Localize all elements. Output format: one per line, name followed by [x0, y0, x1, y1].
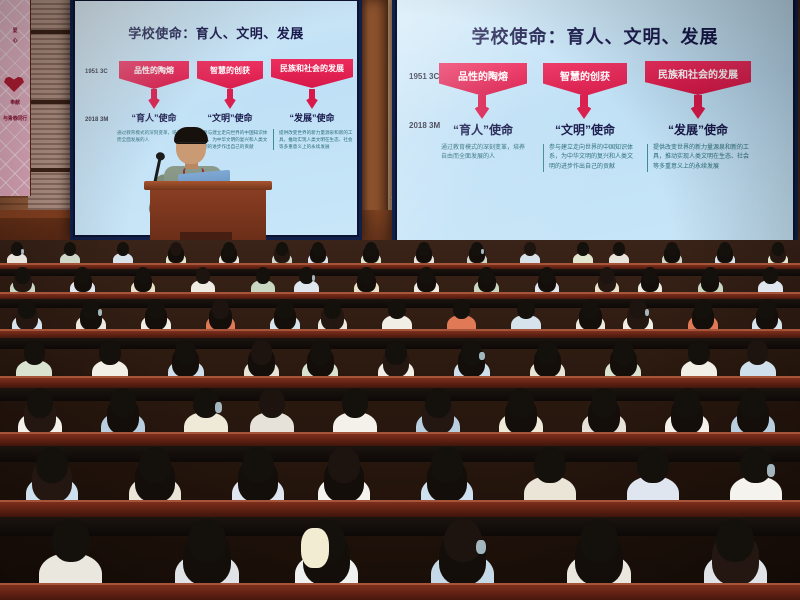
audience-head [36, 447, 67, 483]
audience-head [419, 267, 434, 284]
audience-head [613, 340, 634, 365]
audience-head [52, 519, 90, 563]
mission-1: “育人”使命 [119, 111, 189, 124]
audience-head [772, 242, 784, 256]
audience-head [324, 299, 342, 319]
mission-3: “发展”使命 [645, 121, 751, 138]
audience-head [613, 242, 625, 256]
banner-2: 智慧的创获 [197, 61, 263, 89]
audience-head [540, 267, 555, 284]
audience-head [479, 267, 494, 284]
audience-head [365, 242, 377, 256]
audience-head [139, 447, 170, 483]
audience-head [312, 242, 324, 256]
desc-3: 提供改变世界的新力量源泉和新的工具，推动实现人类文明在生态、社会等多重意义上的永… [273, 129, 355, 150]
audience-head [147, 299, 165, 319]
audience-head [425, 388, 451, 418]
face-mask [645, 309, 650, 316]
audience-head [64, 242, 76, 256]
audience-head [310, 340, 331, 365]
arrow-2 [223, 89, 237, 109]
audience-head [27, 388, 53, 418]
glasses-icon [177, 142, 205, 148]
seat-back [0, 446, 800, 462]
face-mask [21, 249, 24, 254]
slide-right: 学校使命：育人、文明、发展 1951 3C 2018 3M 品性的陶熔 “育人”… [397, 0, 793, 241]
audience-head [688, 340, 709, 365]
mission-3: “发展”使命 [271, 111, 353, 124]
poster-line-1: 爱 [2, 28, 28, 34]
audience-head [359, 267, 374, 284]
banner-1: 品性的陶熔 [439, 63, 527, 96]
year-label-top: 1951 3C [85, 69, 108, 75]
hair-bow [301, 528, 328, 568]
blind-rail [26, 100, 76, 104]
audience-head [758, 299, 776, 319]
audience-head [385, 340, 406, 365]
poster-line-3: 奉献 [2, 100, 28, 106]
banner-2: 智慧的创获 [543, 63, 627, 96]
poster-line-2: 心 [2, 38, 28, 44]
audience-head [577, 242, 589, 256]
audience-head [276, 242, 288, 256]
face-mask [98, 309, 103, 316]
audience-head [431, 447, 462, 483]
audience-head [637, 447, 668, 483]
audience-head [196, 267, 211, 284]
mission-2: “文明”使命 [197, 111, 263, 124]
audience-head [188, 519, 226, 563]
audience-head [453, 299, 471, 319]
audience-head [537, 340, 558, 365]
audience-head [580, 519, 618, 563]
audience-head [666, 242, 678, 256]
audience-head [582, 299, 600, 319]
audience-head [251, 340, 272, 365]
face-mask [476, 540, 486, 555]
audience-head [212, 299, 230, 319]
desc-2: 参与建立走向世界的中国知识体系，为中华文明的复兴和人类文明的进步作出自己的贡献 [543, 144, 633, 172]
audience-head [170, 242, 182, 256]
audience-head [110, 388, 136, 418]
face-mask [767, 464, 775, 476]
audience-head [719, 242, 731, 256]
audience-head [75, 267, 90, 284]
audience-head [24, 340, 45, 365]
audience-head [591, 388, 617, 418]
audience-head [524, 242, 536, 256]
year-label-bottom: 2018 3M [85, 117, 108, 123]
audience-head [18, 299, 36, 319]
audience-head [136, 267, 151, 284]
heart-icon [4, 76, 24, 92]
projection-screen-right: 学校使命：育人、文明、发展 1951 3C 2018 3M 品性的陶熔 “育人”… [392, 0, 798, 246]
audience-head [342, 388, 368, 418]
slide-title: 学校使命：育人、文明、发展 [75, 23, 357, 42]
audience-head [99, 340, 120, 365]
audience-head [242, 447, 273, 483]
audience-head [703, 267, 718, 284]
year-label-top: 1951 3C [409, 72, 439, 81]
seat-back [0, 269, 800, 276]
mission-2: “文明”使命 [539, 121, 631, 138]
mission-1: “育人”使命 [435, 121, 531, 138]
audience-head [763, 267, 778, 284]
audience-head [444, 519, 482, 563]
banner-3: 民族和社会的发展 [271, 59, 353, 88]
arrow-3 [305, 89, 319, 109]
arrow-2 [575, 95, 593, 119]
audience-head [747, 340, 768, 365]
pink-wall-poster: 爱 心 奉献 与青春同行 [0, 0, 31, 196]
desc-3: 提供改变世界的新力量源泉和新的工具，推动实现人类文明在生态、社会等多重意义上的永… [647, 144, 753, 172]
audience-head [388, 299, 406, 319]
arrow-1 [147, 89, 161, 109]
audience-head [328, 447, 359, 483]
lecture-hall-photo: 爱 心 奉献 与青春同行 学校使命：育人、文明、发展 1951 3C 2018 … [0, 0, 800, 600]
blind-rail [26, 30, 76, 34]
slide-title: 学校使命：育人、文明、发展 [397, 23, 793, 49]
desc-1: 通过教育模式的深刻变革，培养自由而全面发展的人 [441, 144, 527, 163]
seat-row [0, 500, 800, 519]
seat-row [0, 583, 800, 600]
audience-head [740, 388, 766, 418]
audience-head [256, 267, 271, 284]
audience-head [716, 519, 754, 563]
audience-head [175, 340, 196, 365]
banner-1: 品性的陶熔 [119, 61, 189, 89]
audience-head [643, 267, 658, 284]
audience-head [674, 388, 700, 418]
arrow-1 [473, 95, 491, 119]
audience-head [694, 299, 712, 319]
poster-line-4: 与青春同行 [2, 116, 28, 122]
face-mask [215, 402, 222, 412]
audience-head [534, 447, 565, 483]
audience-head [259, 388, 285, 418]
audience-head [600, 267, 615, 284]
audience-head [418, 242, 430, 256]
banner-3: 民族和社会的发展 [645, 61, 751, 95]
audience-head [508, 388, 534, 418]
face-mask [479, 352, 485, 360]
audience-head [276, 299, 294, 319]
audience-head [15, 267, 30, 284]
arrow-3 [689, 95, 707, 119]
seat-back [0, 517, 800, 536]
audience-head [117, 242, 129, 256]
face-mask [312, 275, 316, 281]
audience-head [629, 299, 647, 319]
audience-area [0, 240, 800, 600]
audience-head [517, 299, 535, 319]
audience-head [223, 242, 235, 256]
blind-rail [26, 168, 76, 172]
